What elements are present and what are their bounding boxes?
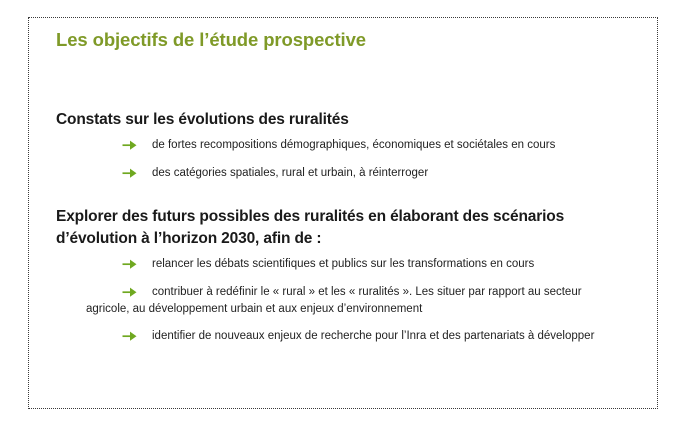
list-item: relancer les débats scientifiques et pub… [122,256,622,273]
slide-content: Les objectifs de l’étude prospective Con… [56,28,647,346]
bullet-list: relancer les débats scientifiques et pub… [56,256,647,346]
list-item-label: des catégories spatiales, rural et urbai… [152,165,622,182]
arrow-right-icon [122,286,140,298]
list-item-label: identifier de nouveaux enjeux de recherc… [86,328,622,345]
section-explorer: Explorer des futurs possibles des rurali… [56,206,647,346]
section-constats: Constats sur les évolutions des ruralité… [56,109,647,182]
arrow-right-icon [122,258,140,270]
list-item-label: de fortes recompositions démographiques,… [152,137,622,154]
list-item-label: relancer les débats scientifiques et pub… [152,256,622,273]
list-item: contribuer à redéfinir le « rural » et l… [56,284,622,319]
page-title: Les objectifs de l’étude prospective [56,28,647,51]
list-item: identifier de nouveaux enjeux de recherc… [56,328,622,345]
section-heading: Constats sur les évolutions des ruralité… [56,109,586,131]
list-item: de fortes recompositions démographiques,… [122,137,622,154]
list-item: des catégories spatiales, rural et urbai… [122,165,622,182]
list-item-label: contribuer à redéfinir le « rural » et l… [86,284,622,319]
section-heading: Explorer des futurs possibles des rurali… [56,206,586,250]
arrow-right-icon [122,139,140,151]
arrow-right-icon [122,167,140,179]
slide-frame: Les objectifs de l’étude prospective Con… [28,17,658,409]
bullet-list: de fortes recompositions démographiques,… [56,137,647,182]
arrow-right-icon [122,330,140,342]
sections-container: Constats sur les évolutions des ruralité… [56,109,647,346]
